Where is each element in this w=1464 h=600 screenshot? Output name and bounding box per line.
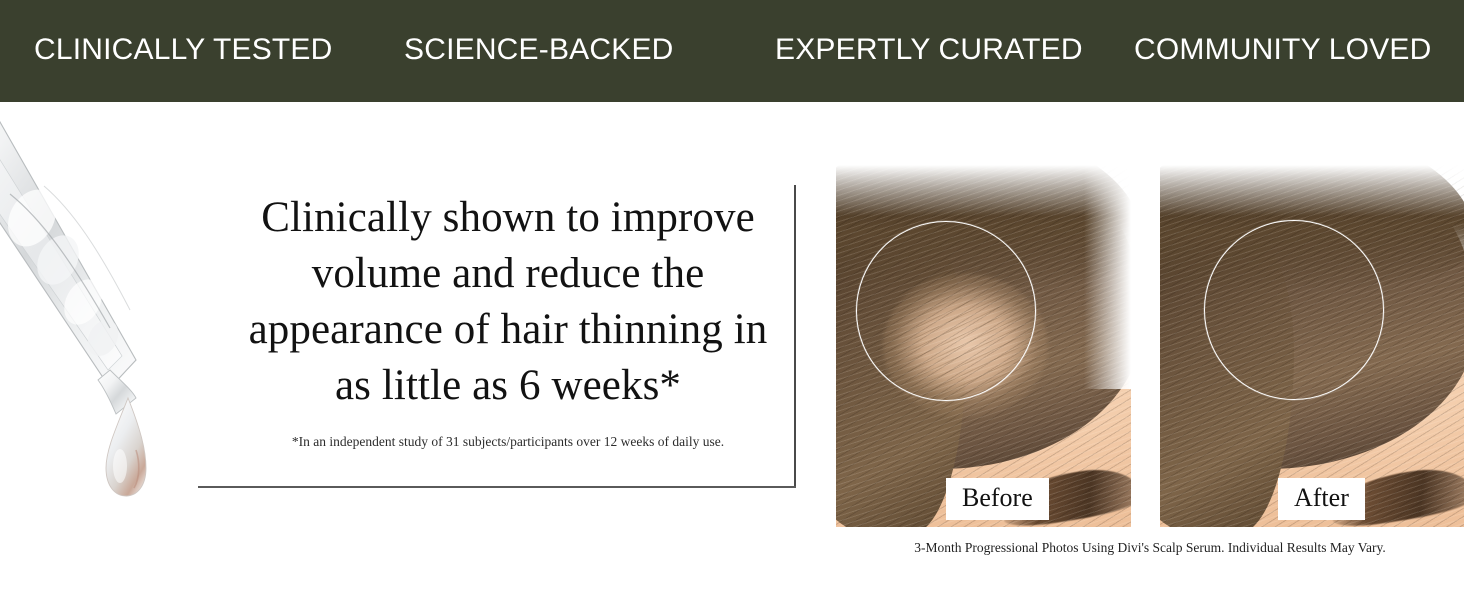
after-highlight-circle (1204, 220, 1384, 400)
serum-dropper-icon (0, 98, 240, 498)
banner-item-expertly-curated: EXPERTLY CURATED (775, 35, 1083, 65)
banner-item-clinically-tested: CLINICALLY TESTED (34, 35, 333, 65)
before-edge-fade-top (836, 165, 1131, 216)
after-label: After (1278, 478, 1365, 520)
before-label: Before (946, 478, 1049, 520)
hero-section: Clinically shown to improve volume and r… (0, 102, 1464, 600)
claim-block: Clinically shown to improve volume and r… (232, 190, 784, 452)
banner-item-science-backed: SCIENCE-BACKED (404, 35, 674, 65)
trust-banner: CLINICALLY TESTED SCIENCE-BACKED EXPERTL… (0, 0, 1464, 102)
after-edge-fade-top (1160, 165, 1464, 216)
banner-item-community-loved: COMMUNITY LOVED (1134, 35, 1431, 65)
results-caption: 3-Month Progressional Photos Using Divi'… (836, 539, 1464, 557)
bracket-vertical-rule (794, 185, 796, 488)
bracket-horizontal-rule (198, 486, 796, 488)
before-photo: Before (836, 165, 1131, 527)
claim-headline: Clinically shown to improve volume and r… (232, 190, 784, 414)
claim-footnote: *In an independent study of 31 subjects/… (232, 432, 784, 452)
before-after-gallery: Before After (836, 165, 1464, 530)
before-highlight-circle (856, 221, 1036, 401)
after-photo: After (1160, 165, 1464, 527)
